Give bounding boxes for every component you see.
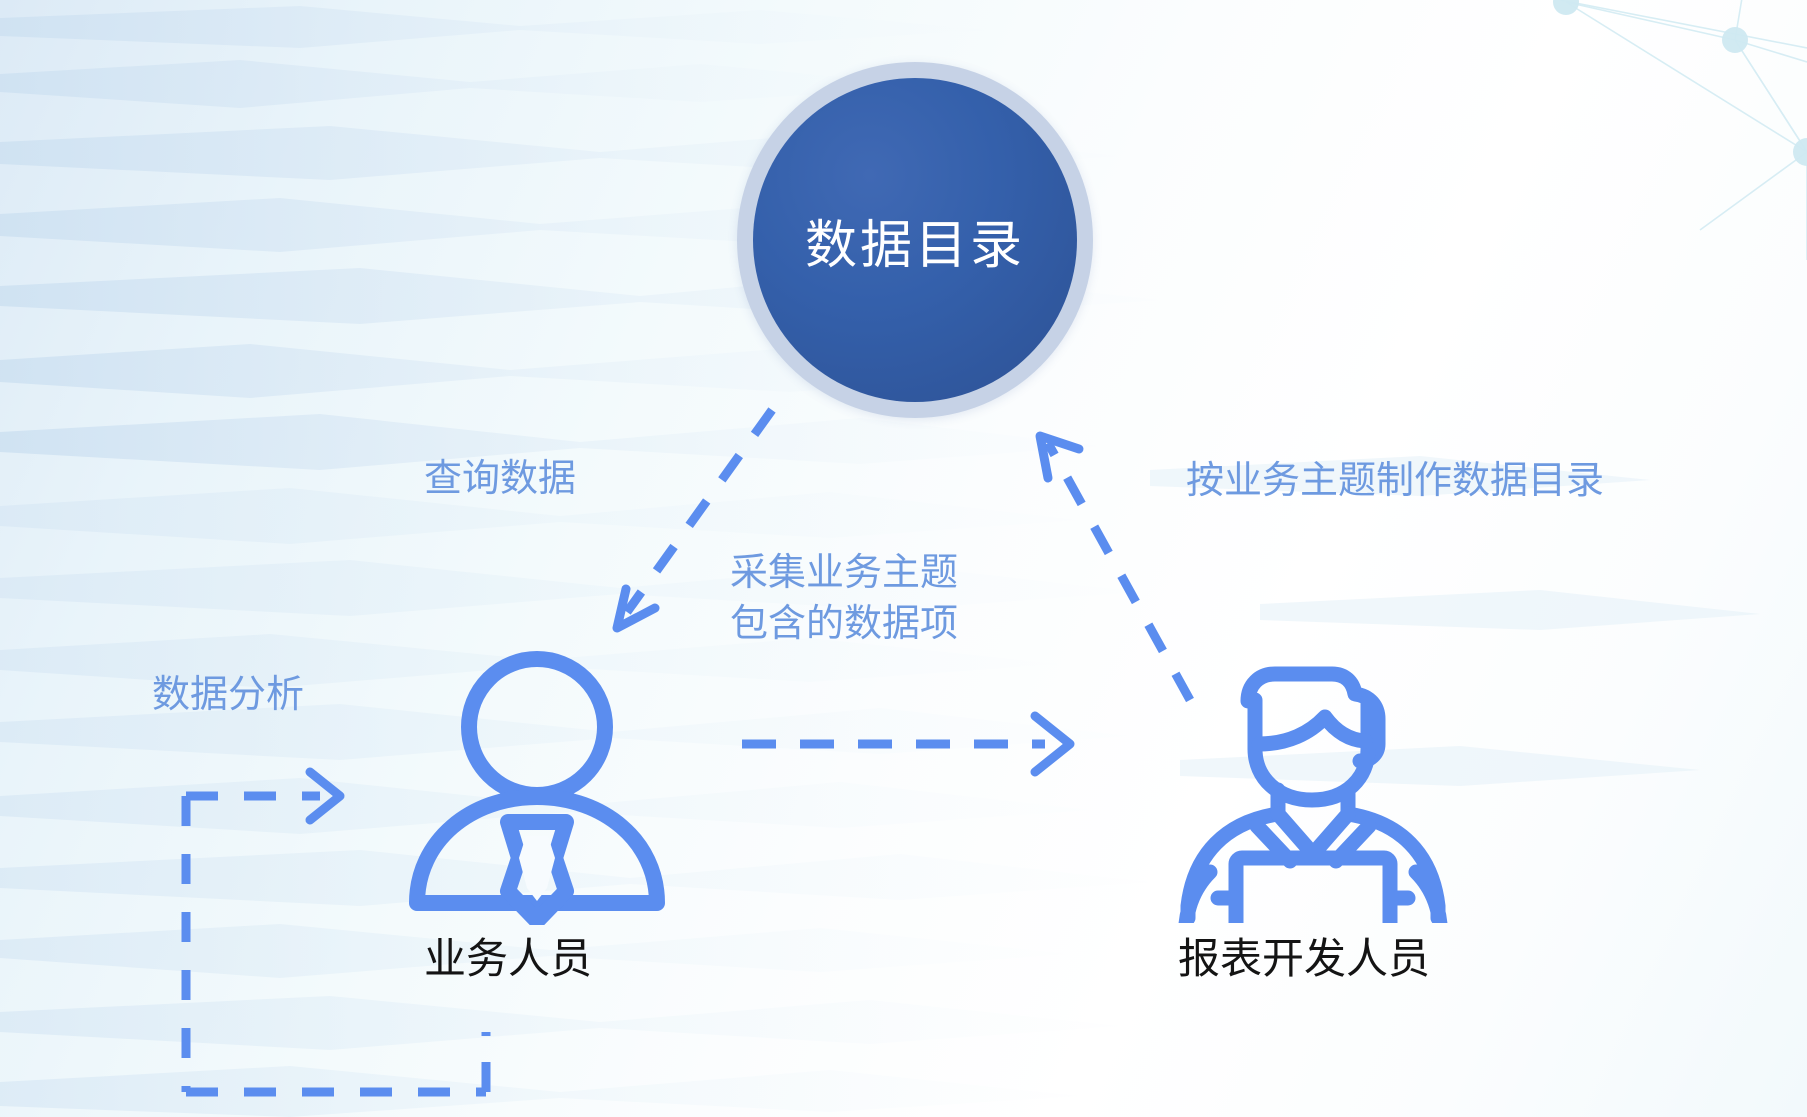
flow-label-analyze: 数据分析 — [152, 672, 304, 718]
flow-label-collect-line1: 采集业务主题 — [730, 548, 958, 599]
data-catalog-node[interactable]: 数据目录 — [737, 62, 1093, 418]
actor-label-developer: 报表开发人员 — [1178, 925, 1430, 986]
flow-label-collect-line2: 包含的数据项 — [730, 599, 958, 650]
flow-label-collect: 采集业务主题 包含的数据项 — [730, 548, 958, 650]
actor-label-business: 业务人员 — [424, 925, 592, 986]
flow-label-query: 查询数据 — [424, 456, 576, 502]
flow-label-make-catalog: 按业务主题制作数据目录 — [1186, 458, 1604, 504]
business-person-icon[interactable] — [395, 645, 680, 925]
data-catalog-node-label: 数据目录 — [805, 203, 1025, 278]
diagram-canvas: 数据目录 查询数据 数据分析 采集业务主题 包含的数据项 按业务主题制作数据目录 — [0, 0, 1807, 1117]
report-developer-icon[interactable] — [1160, 618, 1465, 923]
data-catalog-node-inner: 数据目录 — [753, 78, 1077, 402]
